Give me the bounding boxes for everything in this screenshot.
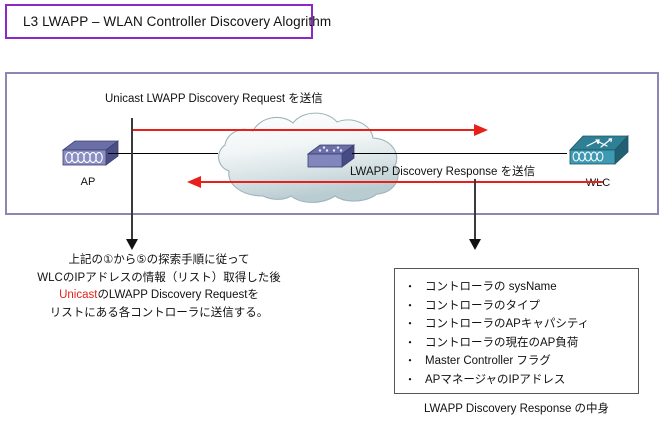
callout-arrowhead-right [469, 239, 481, 250]
page-title-box: L3 LWAPP – WLAN Controller Discovery Alo… [5, 4, 313, 39]
discovery-response-arrowhead [187, 176, 201, 188]
list-item: ・ コントローラの sysName [395, 278, 638, 297]
list-item: ・ APマネージャのIPアドレス [395, 371, 638, 390]
wlc-label: WLC [565, 177, 631, 189]
list-item: ・ Master Controller フラグ [395, 352, 638, 371]
link-line-ap-to-cloud [108, 153, 218, 154]
response-contents-box: ・ コントローラの sysName ・ コントローラのタイプ ・ コントローラの… [394, 268, 639, 394]
response-contents-caption: LWAPP Discovery Response の中身 [394, 400, 639, 416]
callout-line-left [131, 118, 133, 240]
list-item-label: コントローラのAPキャパシティ [425, 315, 589, 334]
list-item: ・ コントローラのタイプ [395, 297, 638, 316]
left-note-line-1: 上記の①から⑤の探索手順に従って [14, 252, 304, 270]
bullet-icon: ・ [395, 371, 425, 390]
link-line-cloud-to-wlc [352, 153, 567, 154]
bullet-icon: ・ [395, 334, 425, 353]
left-explanation-note: 上記の①から⑤の探索手順に従って WLCのIPアドレスの情報（リスト）取得した後… [14, 252, 304, 322]
list-item: ・ コントローラの現在のAP負荷 [395, 334, 638, 353]
bullet-icon: ・ [395, 315, 425, 334]
ap-label: AP [57, 176, 119, 188]
discovery-request-arrow [131, 129, 476, 131]
discovery-response-arrow [198, 181, 603, 183]
left-note-unicast-highlight: Unicast [59, 289, 97, 301]
list-item: ・ コントローラのAPキャパシティ [395, 315, 638, 334]
list-item-label: コントローラの sysName [425, 278, 557, 297]
discovery-request-caption: Unicast LWAPP Discovery Request を送信 [105, 90, 323, 106]
callout-line-right [474, 179, 476, 240]
discovery-response-caption: LWAPP Discovery Response を送信 [350, 163, 535, 179]
access-point-icon [57, 138, 119, 170]
bullet-icon: ・ [395, 278, 425, 297]
callout-arrowhead-left [126, 239, 138, 250]
discovery-request-arrowhead [474, 124, 488, 136]
page-title: L3 LWAPP – WLAN Controller Discovery Alo… [7, 14, 331, 29]
bullet-icon: ・ [395, 352, 425, 371]
list-item-label: Master Controller フラグ [425, 352, 551, 371]
bullet-icon: ・ [395, 297, 425, 316]
wireless-lan-controller-icon [565, 130, 631, 170]
left-note-line-2: WLCのIPアドレスの情報（リスト）取得した後 [14, 270, 304, 288]
left-note-line-4: リストにある各コントローラに送信する。 [14, 305, 304, 323]
left-note-line-3-rest: のLWAPP Discovery Requestを [97, 289, 258, 301]
list-item-label: コントローラの現在のAP負荷 [425, 334, 578, 353]
list-item-label: コントローラのタイプ [425, 297, 540, 316]
left-note-line-3: UnicastのLWAPP Discovery Requestを [14, 287, 304, 305]
list-item-label: APマネージャのIPアドレス [425, 371, 565, 390]
